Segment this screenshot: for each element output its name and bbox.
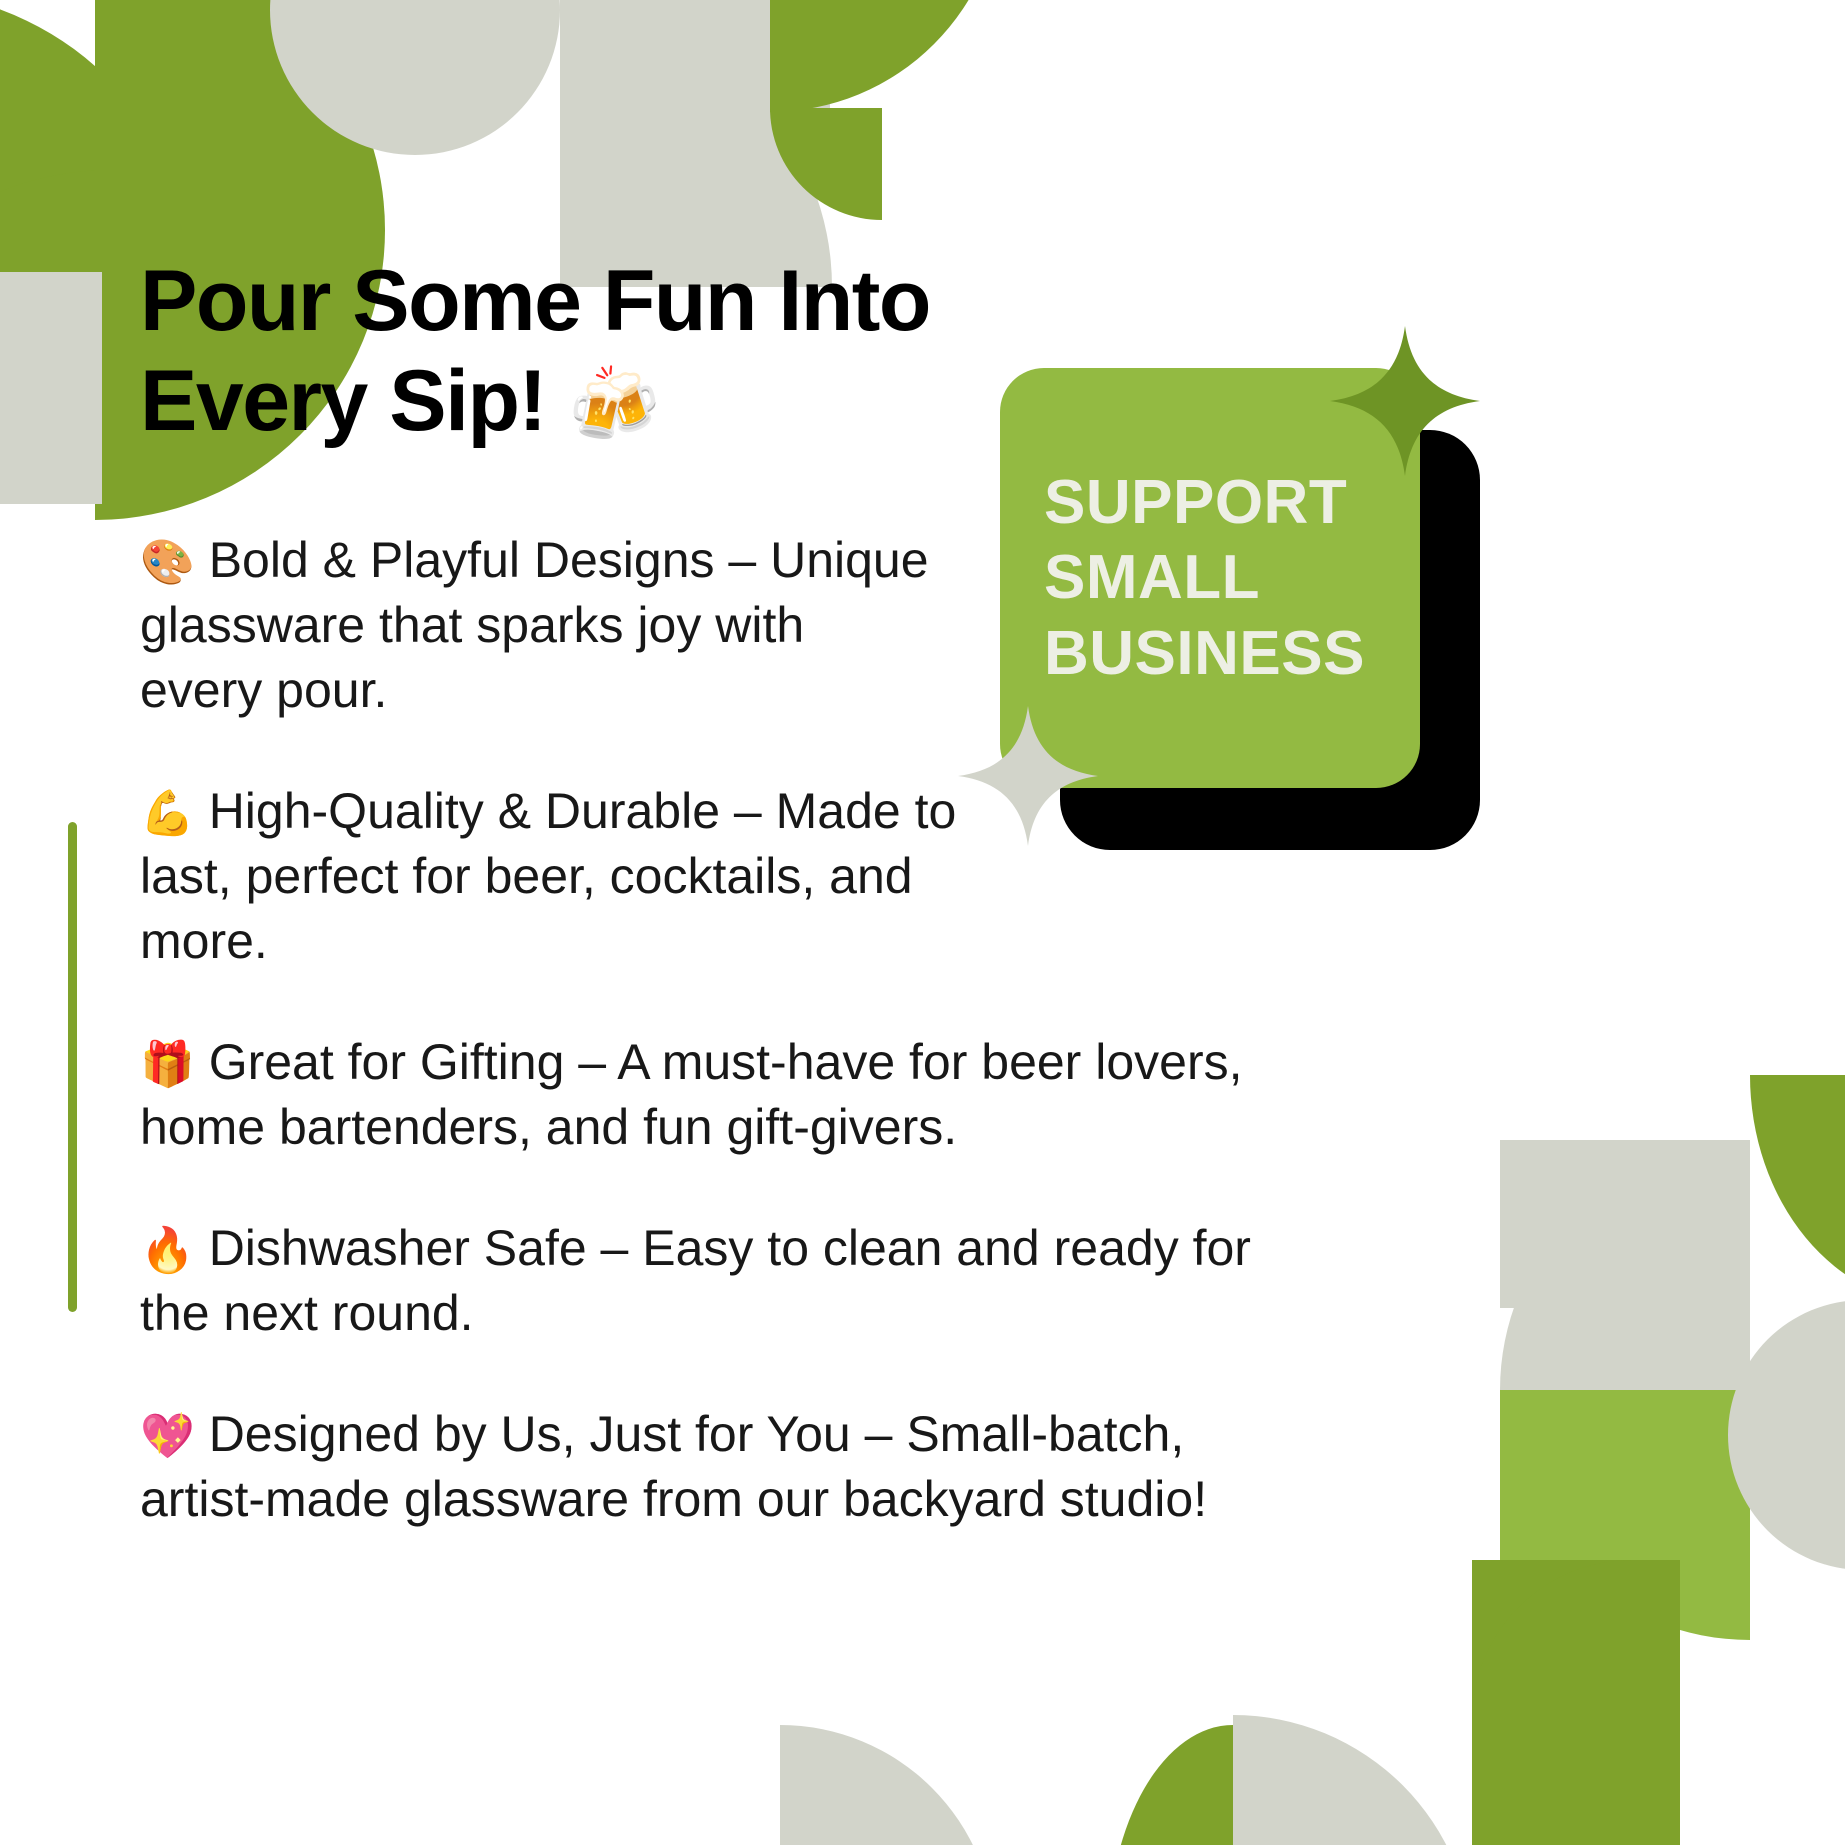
wrapped-gift-icon: 🎁 xyxy=(140,1040,195,1089)
list-item: 💪 High-Quality & Durable – Made to last,… xyxy=(140,779,970,974)
poster-canvas: Pour Some Fun Into Every Sip! 🍻 🎨 Bold &… xyxy=(0,0,1845,1845)
list-item: 💖 Designed by Us, Just for You – Small-b… xyxy=(140,1402,1320,1532)
list-item-text: Bold & Playful Designs – Unique glasswar… xyxy=(140,532,929,718)
badge-line-1: SUPPORT xyxy=(1044,465,1420,541)
badge-panel: SUPPORT SMALL BUSINESS xyxy=(1000,368,1420,788)
support-small-business-badge: SUPPORT SMALL BUSINESS xyxy=(1000,368,1480,848)
sparkling-heart-icon: 💖 xyxy=(140,1412,195,1461)
list-item: 🔥 Dishwasher Safe – Easy to clean and re… xyxy=(140,1216,1330,1346)
list-item-text: Great for Gifting – A must-have for beer… xyxy=(140,1034,1243,1155)
artist-palette-icon: 🎨 xyxy=(140,538,195,587)
list-item-text: Dishwasher Safe – Easy to clean and read… xyxy=(140,1220,1251,1341)
headline-line-1: Pour Some Fun Into xyxy=(140,253,930,349)
page-title: Pour Some Fun Into Every Sip! 🍻 xyxy=(140,252,1140,452)
left-accent-line xyxy=(68,822,77,1312)
list-item-text: Designed by Us, Just for You – Small-bat… xyxy=(140,1406,1207,1527)
clinking-beer-mugs-icon: 🍻 xyxy=(568,363,659,446)
badge-line-2: SMALL xyxy=(1044,540,1420,616)
fire-icon: 🔥 xyxy=(140,1226,195,1275)
badge-line-3: BUSINESS xyxy=(1044,616,1420,692)
list-item: 🎁 Great for Gifting – A must-have for be… xyxy=(140,1030,1300,1160)
list-item: 🎨 Bold & Playful Designs – Unique glassw… xyxy=(140,528,930,723)
headline-line-2: Every Sip! xyxy=(140,353,546,449)
list-item-text: High-Quality & Durable – Made to last, p… xyxy=(140,783,956,969)
flexed-biceps-icon: 💪 xyxy=(140,789,195,838)
